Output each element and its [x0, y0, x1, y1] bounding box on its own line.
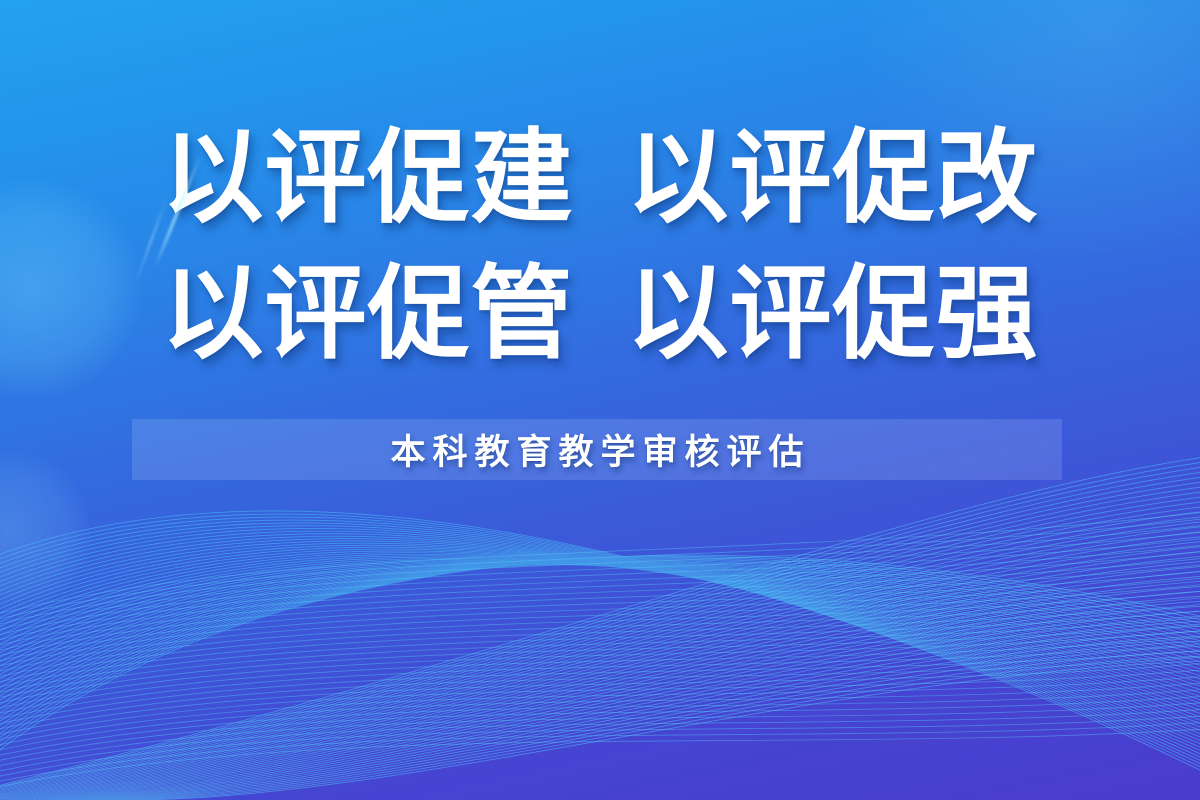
headline-line-1: 以评促建 以评促改 — [0, 112, 1200, 248]
headline-line-2: 以评促管 以评促强 — [0, 248, 1200, 384]
subtitle-label: 本科教育教学审核评估 — [383, 424, 810, 475]
headline-block: 以评促建 以评促改 以评促管 以评促强 — [0, 112, 1200, 384]
subtitle-band: 本科教育教学审核评估 — [132, 419, 1062, 480]
promo-banner: 以评促建 以评促改 以评促管 以评促强 本科教育教学审核评估 — [0, 0, 1200, 800]
